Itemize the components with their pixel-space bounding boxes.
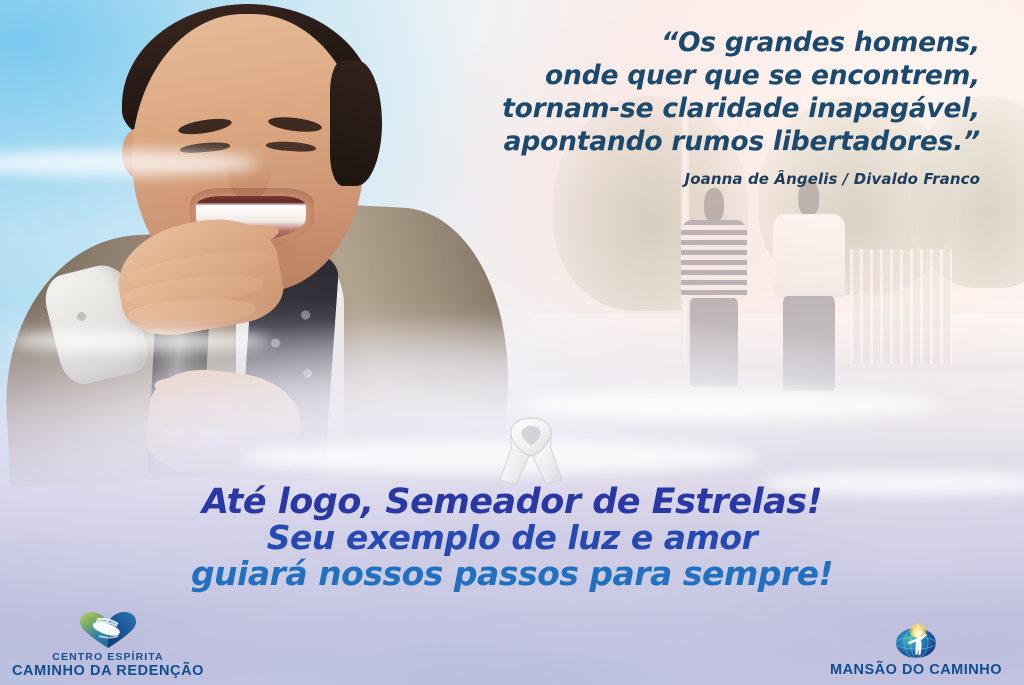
headline-line-1: Até logo, Semeador de Estrelas!: [0, 484, 1024, 520]
headline-line-3: guiará nossos passos para sempre!: [0, 556, 1024, 592]
cloud-wisp: [520, 390, 940, 420]
figure-torso: [773, 214, 845, 298]
memorial-poster: “Os grandes homens, onde quer que se enc…: [0, 0, 1024, 685]
quote-attribution: Joanna de Ângelis / Divaldo Franco: [420, 170, 980, 188]
portrait-divaldo-franco: [0, 0, 470, 470]
cloud-wisp: [10, 330, 270, 352]
quote-line-3: tornam-se claridade inapagável,: [420, 92, 980, 125]
logo-centro-espirita-caminho-da-redencao: CENTRO ESPÍRITA CAMINHO DA REDENÇÃO: [8, 610, 208, 679]
logo-left-line-1: CENTRO ESPÍRITA: [8, 651, 208, 663]
figure-legs: [690, 298, 738, 388]
quote-line-2: onde quer que se encontrem,: [420, 59, 980, 92]
logo-mansao-do-caminho: MANSÃO DO CAMINHO: [816, 621, 1016, 679]
figure-legs: [783, 296, 835, 391]
walking-figure-white-shirt: [773, 180, 845, 391]
headline-block: Até logo, Semeador de Estrelas! Seu exem…: [0, 484, 1024, 592]
ring: [197, 429, 223, 452]
walking-figure-striped-shirt: [681, 188, 748, 387]
quote-block: “Os grandes homens, onde quer que se enc…: [420, 26, 980, 188]
logo-right-line-1: MANSÃO DO CAMINHO: [816, 662, 1016, 679]
logo-left-line-2: CAMINHO DA REDENÇÃO: [8, 663, 208, 679]
scene-gate: [850, 249, 952, 364]
scene-wall: [532, 311, 1024, 374]
cuff-button: [77, 312, 86, 321]
hair-side: [330, 60, 382, 186]
quote-line-4: apontando rumos libertadores.”: [420, 125, 980, 158]
globe-figure-torch-icon: [816, 621, 1016, 661]
headline-line-2: Seu exemplo de luz e amor: [0, 520, 1024, 556]
figure-torso: [681, 220, 748, 300]
figure-head: [704, 188, 724, 222]
heart-hands-icon: [8, 610, 208, 650]
white-awareness-ribbon-icon: [496, 412, 566, 490]
quote-line-1: “Os grandes homens,: [420, 26, 980, 59]
